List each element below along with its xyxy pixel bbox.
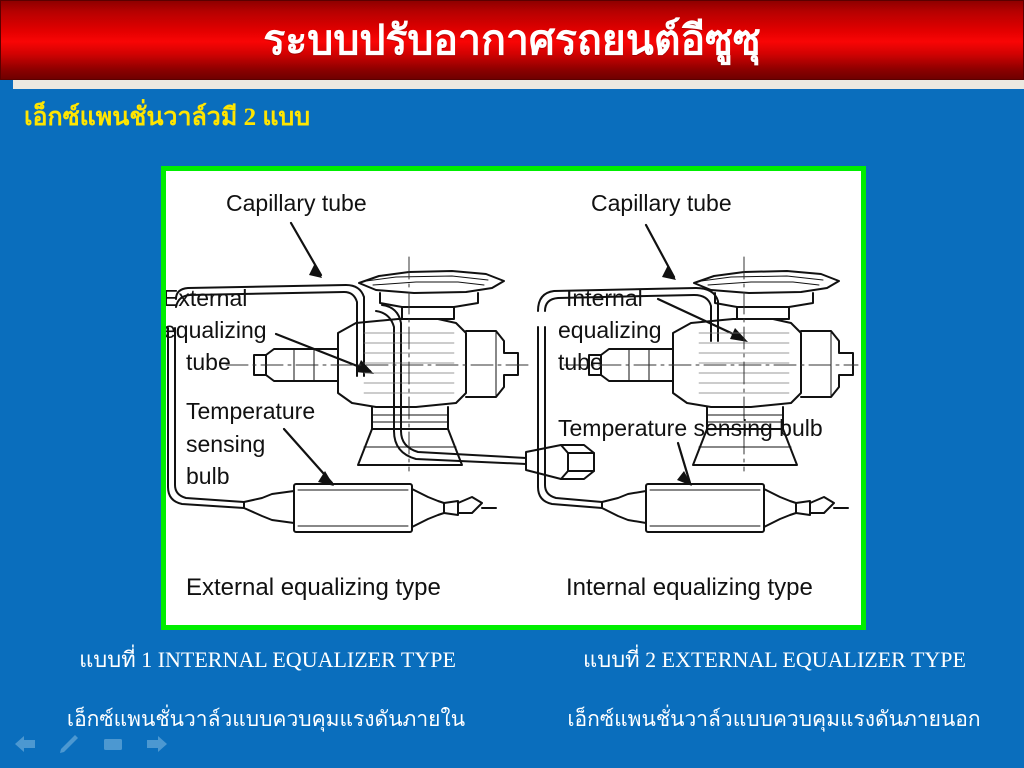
label-sensing-line2: sensing xyxy=(186,431,265,457)
label-external-equalizing-line2: equalizing xyxy=(166,317,267,343)
slide-icon[interactable] xyxy=(102,734,124,754)
label-internal-equalizing-line1: Internal xyxy=(566,285,643,311)
caption-row-english: แบบที่ 1 INTERNAL EQUALIZER TYPE แบบที่ … xyxy=(0,648,1024,672)
pen-icon[interactable] xyxy=(58,734,80,754)
next-arrow-icon[interactable] xyxy=(146,734,168,754)
label-external-equalizing-line3: tube xyxy=(186,349,231,375)
label-temperature-sensing-bulb-right: Temperature sensing bulb xyxy=(558,415,823,441)
caption-external-equalizing-type: External equalizing type xyxy=(186,574,441,601)
header-divider xyxy=(0,80,1024,89)
slide-canvas: ระบบปรับอากาศรถยนต์อีซูซุ เอ็กซ์แพนชั่นว… xyxy=(0,0,1024,768)
label-capillary-tube-right: Capillary tube xyxy=(591,190,732,216)
header-divider-tab xyxy=(0,80,13,89)
label-temperature-line1: Temperature xyxy=(186,398,315,424)
caption-english-left: แบบที่ 1 INTERNAL EQUALIZER TYPE xyxy=(0,648,517,672)
label-bulb-line3: bulb xyxy=(186,463,229,489)
caption-thai-right: เอ็กซ์แพนชั่นวาล์วแบบควบคุมแรงดันภายนอก xyxy=(516,708,1024,731)
expansion-valve-diagram: Capillary tube External equalizing tube … xyxy=(166,171,861,625)
figure-content: Capillary tube External equalizing tube … xyxy=(166,171,861,625)
label-capillary-tube-left: Capillary tube xyxy=(226,190,367,216)
caption-thai-left: เอ็กซ์แพนชั่นวาล์วแบบควบคุมแรงดันภายใน xyxy=(0,708,516,731)
previous-arrow-icon[interactable] xyxy=(14,734,36,754)
subtitle-heading: เอ็กซ์แพนชั่นวาล์วมี 2 แบบ xyxy=(24,104,310,132)
page-title: ระบบปรับอากาศรถยนต์อีซูซุ xyxy=(0,0,1024,80)
label-internal-equalizing-line3: tube xyxy=(558,349,603,375)
label-external-equalizing-line1: External xyxy=(166,285,247,311)
figure-frame: Capillary tube External equalizing tube … xyxy=(161,166,866,630)
caption-row-thai: เอ็กซ์แพนชั่นวาล์วแบบควบคุมแรงดันภายใน เ… xyxy=(0,708,1024,731)
navigation-bar[interactable] xyxy=(14,734,168,754)
label-internal-equalizing-line2: equalizing xyxy=(558,317,662,343)
caption-internal-equalizing-type: Internal equalizing type xyxy=(566,574,813,601)
caption-english-right: แบบที่ 2 EXTERNAL EQUALIZER TYPE xyxy=(517,648,1024,672)
